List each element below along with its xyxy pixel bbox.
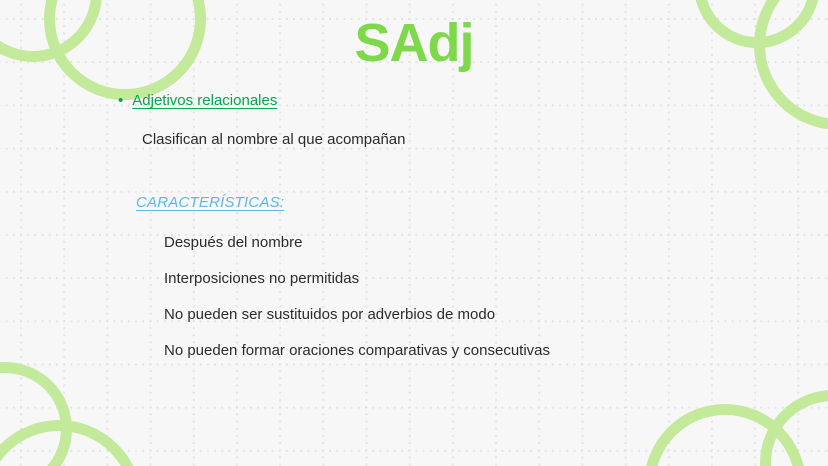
list-item: No pueden ser sustituidos por adverbios …: [164, 306, 550, 323]
subtitle-text: Clasifican al nombre al que acompañan: [142, 131, 406, 148]
list-item: No pueden formar oraciones comparativas …: [164, 342, 550, 359]
list-item: Después del nombre: [164, 234, 550, 251]
list-item: Interposiciones no permitidas: [164, 270, 550, 287]
bullet-item-adjetivos-relacionales: • Adjetivos relacionales: [118, 92, 277, 109]
bullet-item-label: Adjetivos relacionales: [132, 92, 277, 109]
page-title: SAdj: [0, 14, 828, 73]
features-list: Después del nombreInterposiciones no per…: [164, 234, 550, 378]
slide-canvas: SAdj • Adjetivos relacionales Clasifican…: [0, 0, 828, 466]
bullet-point-icon: •: [118, 93, 123, 108]
slide-content: SAdj • Adjetivos relacionales Clasifican…: [0, 0, 828, 466]
features-heading: CARACTERÍSTICAS:: [136, 194, 284, 211]
